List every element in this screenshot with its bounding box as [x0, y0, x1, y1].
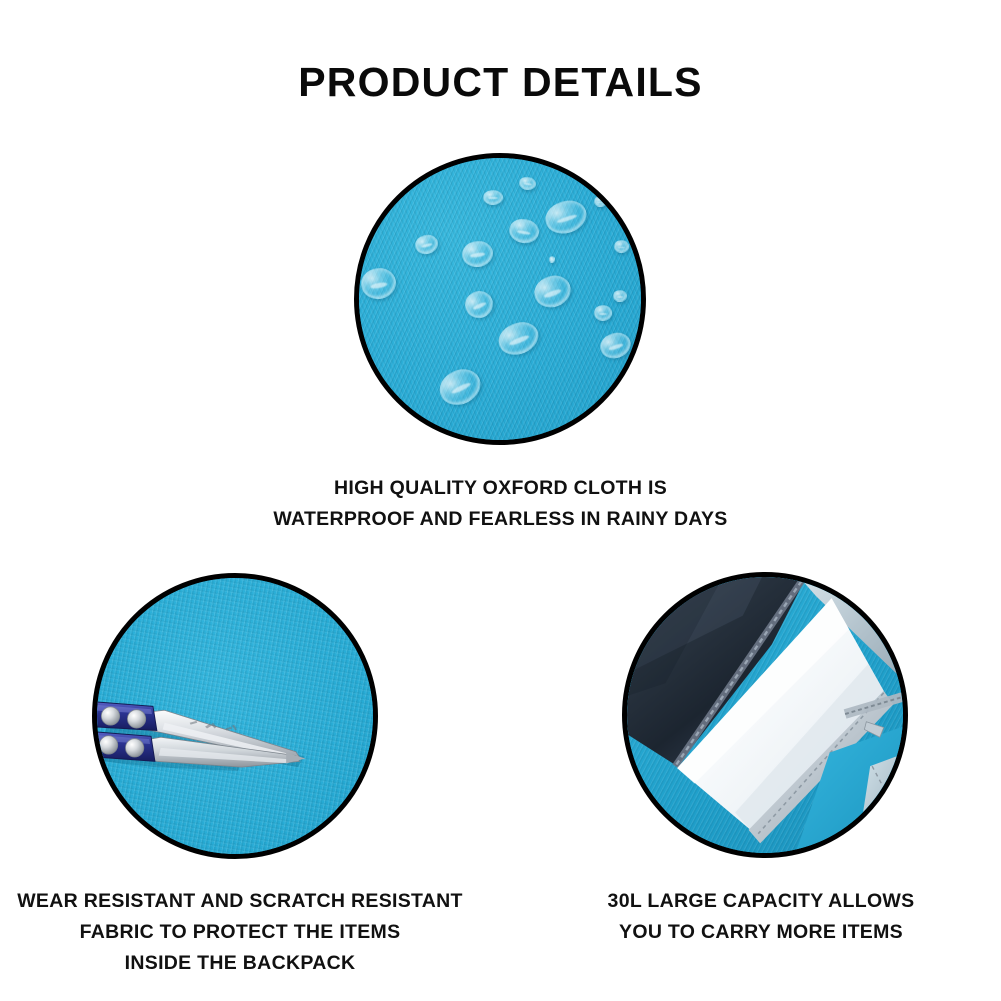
snips-lower-handle: [97, 731, 155, 761]
water-droplet: [359, 265, 399, 302]
water-droplet: [605, 380, 635, 407]
water-droplet: [594, 305, 613, 321]
snips-rivet: [127, 710, 145, 728]
caption-capacity: 30L LARGE CAPACITY ALLOWS YOU TO CARRY M…: [521, 886, 1001, 948]
water-droplet: [494, 316, 544, 360]
caption-line: WATERPROOF AND FEARLESS IN RAINY DAYS: [0, 504, 1001, 535]
backpack-interior-illustration: [627, 577, 903, 853]
product-image-waterproof-fabric: [354, 153, 646, 445]
product-image-backpack-capacity: [622, 572, 908, 858]
caption-line: INSIDE THE BACKPACK: [0, 948, 480, 979]
water-droplet: [594, 196, 607, 207]
page-title: PRODUCT DETAILS: [0, 60, 1001, 105]
caption-line: YOU TO CARRY MORE ITEMS: [521, 917, 1001, 948]
water-droplet: [483, 190, 503, 205]
caption-waterproof: HIGH QUALITY OXFORD CLOTH IS WATERPROOF …: [0, 473, 1001, 535]
image-clip-abrasion: [97, 578, 373, 854]
water-droplet: [519, 176, 538, 191]
product-image-scratch-resistant-fabric: [92, 573, 378, 859]
snips-rivet: [125, 739, 143, 757]
water-droplet: [549, 256, 555, 262]
caption-line: HIGH QUALITY OXFORD CLOTH IS: [0, 473, 1001, 504]
water-droplet: [614, 240, 629, 253]
zipper-hardware: [864, 722, 883, 737]
water-droplet: [541, 195, 591, 239]
snips-upper-handle: [97, 702, 157, 731]
water-droplet: [597, 329, 634, 363]
water-droplet: [613, 290, 627, 302]
water-droplet: [507, 217, 540, 246]
water-droplet: [530, 271, 575, 313]
water-droplet: [460, 287, 497, 323]
image-clip-waterproof: [359, 158, 641, 440]
water-droplets-group: [359, 158, 641, 440]
thread-snips-illustration: [97, 578, 373, 854]
caption-line: WEAR RESISTANT AND SCRATCH RESISTANT: [0, 886, 480, 917]
snips-rivet: [101, 707, 119, 725]
image-clip-capacity: [627, 577, 903, 853]
caption-line: 30L LARGE CAPACITY ALLOWS: [521, 886, 1001, 917]
snips-rivet: [99, 736, 117, 754]
caption-scratch-resistant: WEAR RESISTANT AND SCRATCH RESISTANT FAB…: [0, 886, 480, 979]
product-details-infographic: PRODUCT DETAILS HIGH QUALITY OXFORD CLOT…: [0, 0, 1001, 1001]
water-droplet: [413, 232, 439, 256]
water-droplet: [460, 239, 494, 269]
water-droplet: [434, 362, 487, 411]
caption-line: FABRIC TO PROTECT THE ITEMS: [0, 917, 480, 948]
